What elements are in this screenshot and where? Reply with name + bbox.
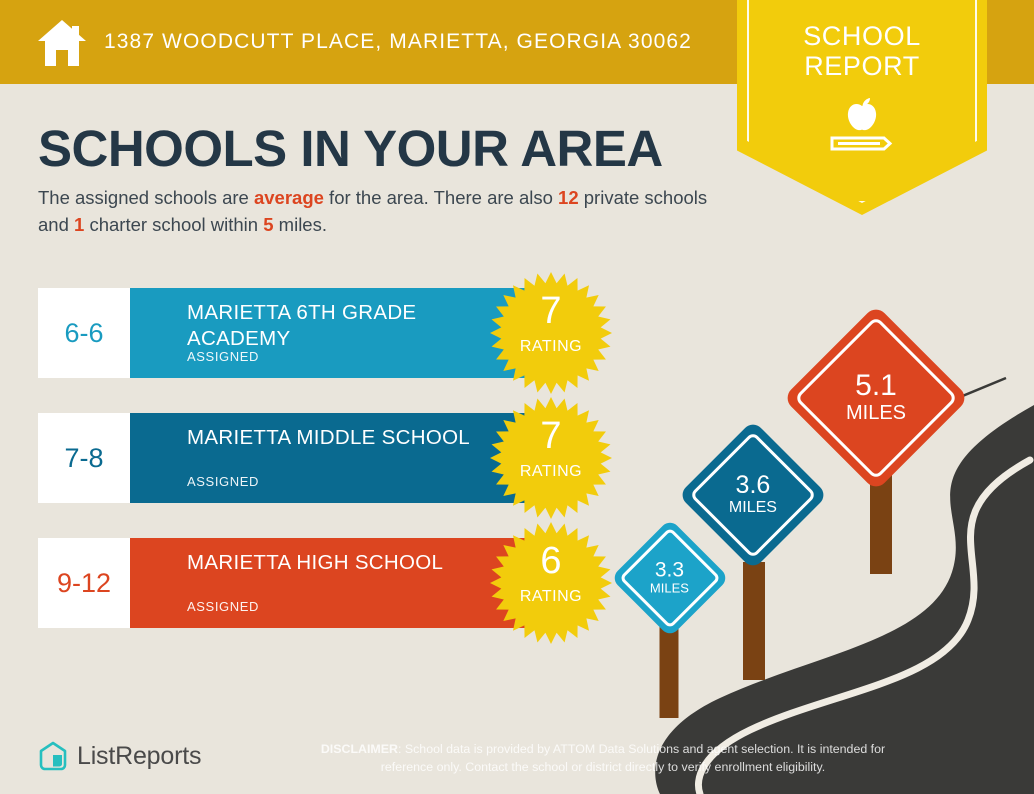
badge-title-line1: SCHOOL [803,21,921,51]
listreports-house-pin-icon [38,740,68,772]
sign-distance-value: 3.6 [729,473,777,498]
sign-distance-unit: MILES [846,401,906,425]
rating-label: RATING [490,338,612,356]
home-icon [36,18,88,68]
rating-starburst-badge: 6 RATING [490,522,612,644]
disclaimer-label: DISCLAIMER [321,742,398,756]
rating-value: 7 [490,292,612,330]
school-report-badge: SCHOOL REPORT [737,0,987,215]
disclaimer-text: DISCLAIMER: School data is provided by A… [298,741,908,777]
sign-post [743,562,765,680]
sign-label: 3.6 MILES [729,473,777,517]
subtitle-highlight-radius: 5 [263,214,273,235]
subtitle-text-5: miles. [274,214,327,235]
listreports-logo-text: ListReports [77,742,201,771]
subtitle-highlight-average: average [254,187,324,208]
rating-value: 6 [490,542,612,580]
sign-post [660,622,679,718]
listreports-logo[interactable]: ListReports [38,740,201,772]
sign-distance-value: 5.1 [846,371,906,401]
badge-title-line2: REPORT [804,51,920,81]
subtitle-text-1: The assigned schools are [38,187,254,208]
header-address: 1387 WOODCUTT PLACE, MARIETTA, GEORGIA 3… [104,30,692,54]
grade-range-box: 9-12 [38,538,130,628]
sign-distance-unit: MILES [729,498,777,517]
school-name: MARIETTA 6TH GRADE ACADEMY [187,300,517,352]
school-row[interactable]: 6-6 MARIETTA 6TH GRADE ACADEMY ASSIGNED … [38,288,568,378]
rating-starburst-badge: 7 RATING [490,272,612,394]
disclaimer-body: : School data is provided by ATTOM Data … [381,742,885,774]
grade-range-label: 7-8 [64,443,103,474]
school-name: MARIETTA HIGH SCHOOL [187,550,517,576]
subtitle-text-2: for the area. There are also [324,187,558,208]
subtitle-highlight-private-count: 12 [558,187,579,208]
subtitle-text-4: charter school within [84,214,263,235]
school-status: ASSIGNED [187,599,259,614]
subtitle-highlight-charter-count: 1 [74,214,84,235]
school-name: MARIETTA MIDDLE SCHOOL [187,425,517,451]
school-row[interactable]: 7-8 MARIETTA MIDDLE SCHOOL ASSIGNED 7 RA… [38,413,568,503]
page-subtitle: The assigned schools are average for the… [38,185,738,239]
sign-label: 5.1 MILES [846,371,906,425]
sign-label: 3.3 MILES [650,560,689,597]
page-title: SCHOOLS IN YOUR AREA [38,119,663,178]
grade-range-label: 9-12 [57,568,111,599]
grade-range-box: 6-6 [38,288,130,378]
grade-range-box: 7-8 [38,413,130,503]
sign-distance-value: 3.3 [650,560,689,581]
rating-value: 7 [490,417,612,455]
sign-distance-unit: MILES [650,581,689,597]
rating-label: RATING [490,588,612,606]
distance-sign: 3.3 MILES [608,518,730,698]
rating-starburst-badge: 7 RATING [490,397,612,519]
apple-on-book-icon [824,96,900,160]
school-row[interactable]: 9-12 MARIETTA HIGH SCHOOL ASSIGNED 6 RAT… [38,538,568,628]
badge-title: SCHOOL REPORT [737,22,987,81]
rating-label: RATING [490,463,612,481]
road-illustration: 5.1 MILES 3.6 MILES 3.3 MILES [600,310,1034,794]
school-status: ASSIGNED [187,474,259,489]
school-status: ASSIGNED [187,349,259,364]
sign-face: 3.3 MILES [611,519,730,638]
grade-range-label: 6-6 [64,318,103,349]
